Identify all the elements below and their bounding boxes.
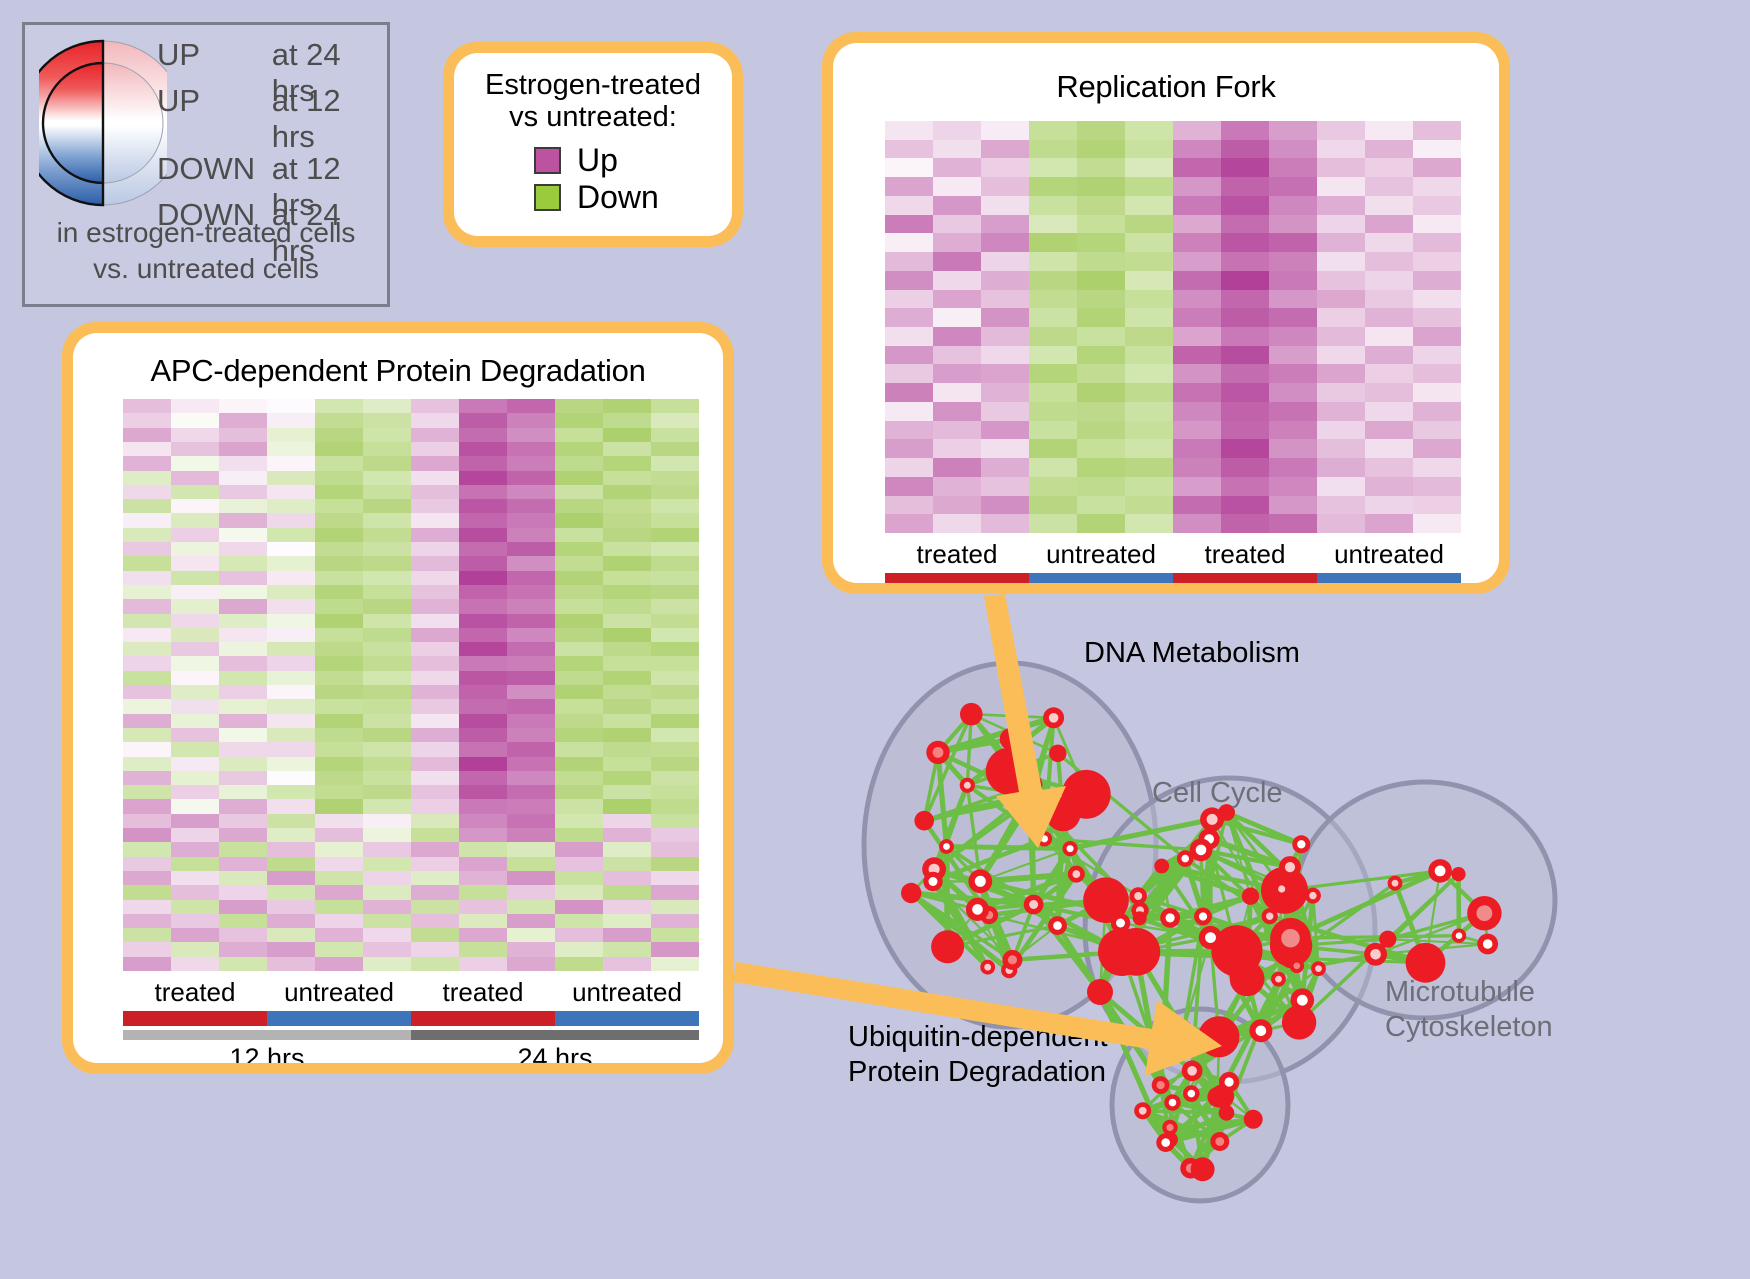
- heatmap-cell: [315, 513, 363, 527]
- heatmap-cell: [315, 413, 363, 427]
- time-label: 24 hrs: [411, 1043, 699, 1063]
- heatmap-cell: [1077, 496, 1125, 515]
- heatmap-cell: [363, 828, 411, 842]
- heatmap-cell: [123, 499, 171, 513]
- heatmap-cell: [459, 556, 507, 570]
- heatmap-cell: [219, 685, 267, 699]
- heatmap-cell: [555, 499, 603, 513]
- network-node-core: [984, 964, 991, 971]
- heatmap-cell: [1365, 233, 1413, 252]
- network-node-core: [1179, 1026, 1188, 1035]
- legend-item-up: Up: [534, 142, 722, 179]
- heatmap-cell: [1317, 215, 1365, 234]
- heatmap-cell: [507, 399, 555, 413]
- heatmap-cell: [651, 528, 699, 542]
- heatmap-cell: [267, 828, 315, 842]
- heatmap-cell: [411, 528, 459, 542]
- heatmap-cell: [1125, 439, 1173, 458]
- heatmap-cell: [315, 456, 363, 470]
- heatmap-cell: [267, 585, 315, 599]
- heatmap-cell: [555, 785, 603, 799]
- heatmap-cell: [1125, 196, 1173, 215]
- heatmap-cell: [651, 642, 699, 656]
- heatmap-cell: [555, 528, 603, 542]
- heatmap-cell: [363, 699, 411, 713]
- heatmap-cell: [1125, 383, 1173, 402]
- heatmap-cell: [1269, 346, 1317, 365]
- heatmap-cell: [219, 942, 267, 956]
- heatmap-cell: [981, 327, 1029, 346]
- heatmap-cell: [123, 656, 171, 670]
- heatmap-cell: [411, 656, 459, 670]
- apc-degradation-title: APC-dependent Protein Degradation: [73, 353, 723, 389]
- network-node-core: [1275, 976, 1282, 983]
- heatmap-cell: [315, 828, 363, 842]
- heatmap-cell: [267, 485, 315, 499]
- heatmap-cell: [651, 485, 699, 499]
- heatmap-cell: [555, 542, 603, 556]
- heatmap-cell: [1077, 421, 1125, 440]
- heatmap-cell: [1029, 477, 1077, 496]
- heatmap-cell: [363, 585, 411, 599]
- group-label: treated: [411, 977, 555, 1008]
- heatmap-cell: [267, 456, 315, 470]
- heatmap-cell: [1173, 271, 1221, 290]
- heatmap-cell: [555, 471, 603, 485]
- heatmap-cell: [1173, 308, 1221, 327]
- heatmap-cell: [1269, 477, 1317, 496]
- heatmap-cell: [1077, 271, 1125, 290]
- heatmap-cell: [1125, 402, 1173, 421]
- heatmap-cell: [363, 757, 411, 771]
- apc-time-bar: [123, 1030, 699, 1040]
- heatmap-cell: [1173, 252, 1221, 271]
- heatmap-cell: [603, 799, 651, 813]
- cluster-label-dna-metabolism: DNA Metabolism: [1084, 636, 1300, 671]
- heatmap-cell: [171, 628, 219, 642]
- heatmap-cell: [933, 514, 981, 533]
- heatmap-cell: [171, 914, 219, 928]
- heatmap-cell: [651, 914, 699, 928]
- network-node-core: [1285, 862, 1295, 872]
- heatmap-cell: [411, 571, 459, 585]
- heatmap-cell: [555, 599, 603, 613]
- heatmap-cell: [171, 928, 219, 942]
- heatmap-cell: [315, 571, 363, 585]
- heatmap-cell: [315, 857, 363, 871]
- network-node-core: [1297, 995, 1308, 1006]
- heatmap-cell: [651, 471, 699, 485]
- heatmap-cell: [219, 471, 267, 485]
- heatmap-cell: [267, 614, 315, 628]
- heatmap-cell: [1029, 290, 1077, 309]
- heatmap-cell: [651, 428, 699, 442]
- heatmap-cell: [555, 742, 603, 756]
- heatmap-cell: [315, 842, 363, 856]
- heatmap-cell: [1413, 458, 1461, 477]
- heatmap-cell: [267, 871, 315, 885]
- heatmap-cell: [459, 957, 507, 971]
- heatmap-cell: [219, 428, 267, 442]
- heatmap-cell: [651, 685, 699, 699]
- heatmap-cell: [1077, 140, 1125, 159]
- heatmap-cell: [219, 442, 267, 456]
- heatmap-cell: [1221, 383, 1269, 402]
- heatmap-cell: [1221, 364, 1269, 383]
- heatmap-cell: [885, 121, 933, 140]
- heatmap-cell: [1029, 383, 1077, 402]
- replication-fork-heatmap: [885, 121, 1461, 533]
- heatmap-cell: [123, 857, 171, 871]
- heatmap-cell: [1413, 514, 1461, 533]
- heatmap-cell: [171, 399, 219, 413]
- heatmap-cell: [1317, 327, 1365, 346]
- heatmap-cell: [1413, 140, 1461, 159]
- network-node: [931, 930, 964, 963]
- heatmap-cell: [555, 714, 603, 728]
- heatmap-cell: [651, 556, 699, 570]
- heatmap-cell: [507, 914, 555, 928]
- heatmap-cell: [651, 842, 699, 856]
- heatmap-cell: [267, 757, 315, 771]
- heatmap-cell: [1317, 477, 1365, 496]
- heatmap-cell: [363, 928, 411, 942]
- heatmap-cell: [363, 471, 411, 485]
- heatmap-cell: [885, 364, 933, 383]
- heatmap-cell: [981, 196, 1029, 215]
- heatmap-cell: [315, 585, 363, 599]
- heatmap-cell: [459, 857, 507, 871]
- heatmap-cell: [603, 685, 651, 699]
- heatmap-cell: [219, 785, 267, 799]
- heatmap-cell: [507, 928, 555, 942]
- heatmap-cell: [1317, 252, 1365, 271]
- heatmap-cell: [171, 885, 219, 899]
- heatmap-cell: [981, 458, 1029, 477]
- heatmap-cell: [123, 456, 171, 470]
- heatmap-cell: [459, 599, 507, 613]
- network-node-core: [975, 876, 986, 887]
- heatmap-cell: [219, 656, 267, 670]
- heatmap-cell: [411, 556, 459, 570]
- heatmap-cell: [411, 914, 459, 928]
- heatmap-cell: [363, 656, 411, 670]
- heatmap-cell: [459, 914, 507, 928]
- heatmap-cell: [555, 571, 603, 585]
- heatmap-cell: [885, 158, 933, 177]
- heatmap-cell: [219, 814, 267, 828]
- heatmap-cell: [123, 585, 171, 599]
- heatmap-cell: [267, 471, 315, 485]
- heatmap-cell: [1365, 196, 1413, 215]
- heatmap-cell: [933, 140, 981, 159]
- apc-time-labels: 12 hrs 24 hrs: [123, 1043, 699, 1063]
- heatmap-cell: [1317, 271, 1365, 290]
- heatmap-cell: [123, 685, 171, 699]
- heatmap-cell: [1029, 458, 1077, 477]
- heatmap-cell: [933, 477, 981, 496]
- heatmap-cell: [123, 871, 171, 885]
- heatmap-cell: [123, 900, 171, 914]
- heatmap-cell: [1365, 439, 1413, 458]
- heatmap-cell: [603, 771, 651, 785]
- heatmap-cell: [981, 252, 1029, 271]
- heatmap-cell: [171, 471, 219, 485]
- heatmap-cell: [555, 685, 603, 699]
- heatmap-cell: [1125, 364, 1173, 383]
- heatmap-cell: [1269, 402, 1317, 421]
- network-node-core: [1477, 905, 1493, 921]
- heatmap-cell: [411, 842, 459, 856]
- heatmap-cell: [315, 799, 363, 813]
- heatmap-cell: [651, 942, 699, 956]
- heatmap-cell: [1365, 308, 1413, 327]
- heatmap-cell: [1173, 514, 1221, 533]
- heatmap-cell: [651, 599, 699, 613]
- heatmap-cell: [123, 728, 171, 742]
- heatmap-cell: [651, 671, 699, 685]
- heatmap-cell: [171, 671, 219, 685]
- heatmap-cell: [1413, 233, 1461, 252]
- heatmap-cell: [363, 685, 411, 699]
- heatmap-cell: [459, 699, 507, 713]
- heatmap-cell: [1077, 121, 1125, 140]
- heatmap-cell: [603, 528, 651, 542]
- heatmap-cell: [459, 871, 507, 885]
- heatmap-cell: [555, 428, 603, 442]
- legend-item-down: Down: [534, 179, 722, 216]
- heatmap-cell: [123, 814, 171, 828]
- heatmap-cell: [603, 542, 651, 556]
- heatmap-cell: [315, 942, 363, 956]
- heatmap-cell: [555, 556, 603, 570]
- heatmap-cell: [603, 885, 651, 899]
- heatmap-cell: [1221, 252, 1269, 271]
- heatmap-cell: [885, 233, 933, 252]
- heatmap-cell: [603, 828, 651, 842]
- heatmap-cell: [219, 900, 267, 914]
- heatmap-cell: [123, 571, 171, 585]
- heatmap-cell: [1269, 364, 1317, 383]
- cluster-label-ubiquitin-protein-degradation: Ubiquitin-dependent Protein Degradation: [848, 1020, 1108, 1091]
- heatmap-cell: [363, 485, 411, 499]
- heatmap-cell: [363, 957, 411, 971]
- heatmap-cell: [411, 685, 459, 699]
- group-label: treated: [1173, 539, 1317, 570]
- heatmap-cell: [315, 542, 363, 556]
- heatmap-cell: [507, 628, 555, 642]
- heatmap-cell: [1365, 177, 1413, 196]
- heatmap-cell: [171, 599, 219, 613]
- network-node-core: [1256, 1026, 1267, 1037]
- heatmap-cell: [267, 528, 315, 542]
- heatmap-cell: [507, 757, 555, 771]
- heatmap-cell: [651, 699, 699, 713]
- heatmap-cell: [459, 456, 507, 470]
- heatmap-cell: [1317, 346, 1365, 365]
- heatmap-cell: [1269, 121, 1317, 140]
- heatmap-cell: [267, 914, 315, 928]
- heatmap-cell: [219, 614, 267, 628]
- heatmap-cell: [411, 542, 459, 556]
- heatmap-cell: [459, 471, 507, 485]
- heatmap-cell: [933, 121, 981, 140]
- heatmap-cell: [411, 742, 459, 756]
- heatmap-cell: [1221, 140, 1269, 159]
- network-node-core: [929, 877, 938, 886]
- heatmap-cell: [411, 799, 459, 813]
- heatmap-cell: [267, 785, 315, 799]
- heatmap-cell: [933, 327, 981, 346]
- heatmap-cell: [651, 885, 699, 899]
- heatmap-cell: [411, 771, 459, 785]
- heatmap-cell: [1125, 271, 1173, 290]
- heatmap-cell: [1365, 496, 1413, 515]
- pathway-network-diagram: DNA Metabolism Cell Cycle Microtubule Cy…: [800, 600, 1750, 1279]
- heatmap-cell: [1125, 346, 1173, 365]
- heatmap-cell: [981, 514, 1029, 533]
- heatmap-cell: [123, 799, 171, 813]
- heatmap-cell: [267, 399, 315, 413]
- heatmap-cell: [1077, 327, 1125, 346]
- heatmap-cell: [219, 456, 267, 470]
- heatmap-cell: [459, 528, 507, 542]
- heatmap-cell: [123, 842, 171, 856]
- network-node-core: [1392, 880, 1399, 887]
- heatmap-cell: [315, 471, 363, 485]
- heatmap-cell: [1077, 346, 1125, 365]
- heatmap-cell: [123, 957, 171, 971]
- heatmap-cell: [507, 785, 555, 799]
- heatmap-cell: [1365, 121, 1413, 140]
- heatmap-cell: [1221, 290, 1269, 309]
- heatmap-cell: [603, 556, 651, 570]
- heatmap-cell: [1269, 514, 1317, 533]
- heatmap-cell: [171, 799, 219, 813]
- heatmap-cell: [123, 914, 171, 928]
- heatmap-cell: [267, 714, 315, 728]
- heatmap-cell: [1413, 271, 1461, 290]
- network-node: [1242, 888, 1259, 905]
- heatmap-cell: [1173, 290, 1221, 309]
- heatmap-cell: [267, 513, 315, 527]
- heatmap-cell: [1269, 458, 1317, 477]
- heatmap-cell: [603, 428, 651, 442]
- network-node: [1451, 867, 1465, 881]
- network-node-core: [1483, 939, 1493, 949]
- heatmap-cell: [507, 871, 555, 885]
- heatmap-cell: [981, 158, 1029, 177]
- heatmap-cell: [603, 714, 651, 728]
- heatmap-cell: [411, 785, 459, 799]
- heatmap-cell: [555, 928, 603, 942]
- heatmap-cell: [1365, 458, 1413, 477]
- heatmap-cell: [555, 456, 603, 470]
- heatmap-cell: [1221, 233, 1269, 252]
- cluster-label-cell-cycle: Cell Cycle: [1152, 776, 1283, 811]
- heatmap-cell: [171, 642, 219, 656]
- heatmap-cell: [219, 885, 267, 899]
- heatmap-cell: [1173, 346, 1221, 365]
- heatmap-cell: [171, 585, 219, 599]
- heatmap-cell: [219, 556, 267, 570]
- key-caption-line2: vs. untreated cells: [25, 251, 387, 287]
- heatmap-cell: [219, 628, 267, 642]
- key-time-label: at 12 hrs: [272, 83, 387, 155]
- heatmap-cell: [885, 458, 933, 477]
- heatmap-cell: [411, 957, 459, 971]
- heatmap-cell: [267, 599, 315, 613]
- heatmap-cell: [267, 699, 315, 713]
- heatmap-cell: [1317, 458, 1365, 477]
- heatmap-cell: [411, 671, 459, 685]
- heatmap-cell: [267, 942, 315, 956]
- heatmap-cell: [1125, 290, 1173, 309]
- heatmap-cell: [315, 699, 363, 713]
- heatmap-cell: [555, 814, 603, 828]
- network-node-core: [1067, 845, 1074, 852]
- heatmap-cell: [507, 528, 555, 542]
- heatmap-cell: [1317, 177, 1365, 196]
- heatmap-cell: [171, 771, 219, 785]
- heatmap-cell: [363, 571, 411, 585]
- heatmap-cell: [1413, 421, 1461, 440]
- network-node-core: [1134, 892, 1142, 900]
- network-node-core: [1166, 1124, 1173, 1131]
- heatmap-cell: [123, 671, 171, 685]
- heatmap-cell: [603, 914, 651, 928]
- heatmap-cell: [267, 842, 315, 856]
- heatmap-cell: [171, 656, 219, 670]
- heatmap-cell: [507, 685, 555, 699]
- heatmap-cell: [555, 914, 603, 928]
- heatmap-cell: [363, 413, 411, 427]
- heatmap-cell: [267, 442, 315, 456]
- heatmap-cell: [651, 928, 699, 942]
- heatmap-cell: [363, 714, 411, 728]
- heatmap-cell: [1221, 421, 1269, 440]
- heatmap-cell: [123, 599, 171, 613]
- heatmap-cell: [315, 428, 363, 442]
- heatmap-cell: [123, 642, 171, 656]
- heatmap-cell: [363, 399, 411, 413]
- heatmap-cell: [885, 346, 933, 365]
- heatmap-cell: [411, 900, 459, 914]
- heatmap-cell: [363, 628, 411, 642]
- heatmap-cell: [1029, 233, 1077, 252]
- heatmap-cell: [507, 442, 555, 456]
- treatment-segment: [555, 1011, 699, 1026]
- heatmap-cell: [123, 757, 171, 771]
- heatmap-cell: [507, 900, 555, 914]
- heatmap-cell: [651, 571, 699, 585]
- heatmap-cell: [603, 814, 651, 828]
- heatmap-cell: [1413, 196, 1461, 215]
- heatmap-cell: [981, 308, 1029, 327]
- key-caption: in estrogen-treated cells vs. untreated …: [25, 215, 387, 287]
- heatmap-cell: [459, 642, 507, 656]
- treatment-segment: [1029, 573, 1173, 583]
- heatmap-cell: [555, 728, 603, 742]
- heatmap-cell: [1029, 271, 1077, 290]
- heatmap-cell: [1077, 158, 1125, 177]
- heatmap-cell: [315, 399, 363, 413]
- heatmap-cell: [123, 528, 171, 542]
- key-direction-label: DOWN: [157, 151, 272, 187]
- legend-item-list: Up Down: [464, 142, 722, 216]
- heatmap-cell: [603, 642, 651, 656]
- heatmap-cell: [411, 885, 459, 899]
